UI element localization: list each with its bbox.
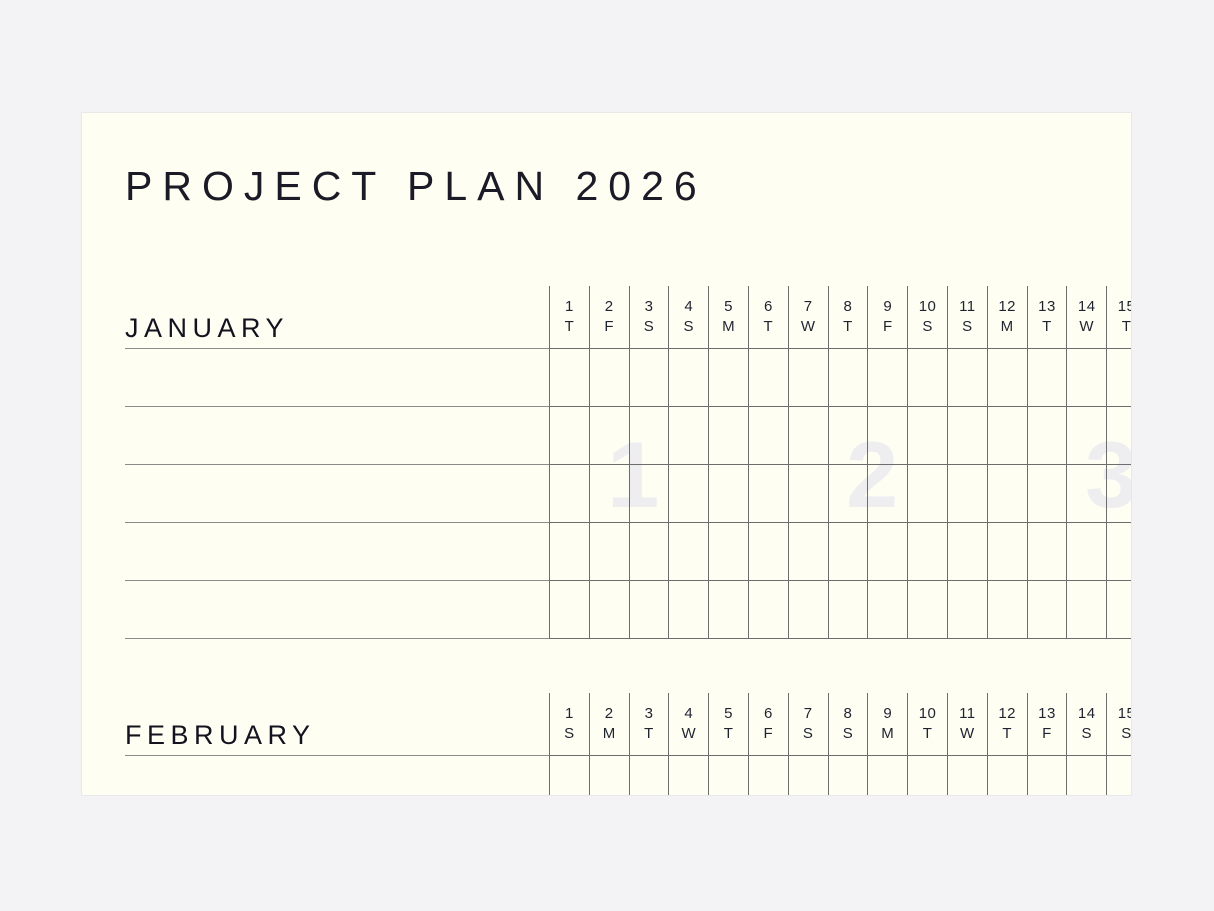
- day-of-week: M: [709, 316, 748, 337]
- day-cell[interactable]: [1067, 406, 1107, 464]
- day-header-cell[interactable]: 8S: [828, 693, 868, 755]
- day-cell[interactable]: [748, 755, 788, 795]
- day-cell[interactable]: [1067, 755, 1107, 795]
- day-of-week: W: [789, 316, 828, 337]
- month-block-january: JANUARY 1231T2F3S4S5M6T7W8T9F10S11S12M13…: [82, 286, 1131, 644]
- day-number: 4: [669, 704, 708, 723]
- day-cell[interactable]: [709, 348, 749, 406]
- day-header-cell[interactable]: 8T: [828, 286, 868, 348]
- month-block-february: FEBRUARY 1S2M3T4W5T6F7S8S9M10T11W12T13F1…: [82, 693, 1131, 795]
- day-header-cell[interactable]: 12M: [987, 286, 1027, 348]
- day-cell[interactable]: [828, 464, 868, 522]
- task-row: [550, 348, 1132, 406]
- day-header-cell[interactable]: 3S: [629, 286, 669, 348]
- day-number: 9: [868, 704, 907, 723]
- day-number: 15: [1107, 297, 1131, 316]
- day-cell[interactable]: [828, 406, 868, 464]
- day-number: 11: [948, 704, 987, 723]
- day-of-week: T: [1028, 316, 1067, 337]
- day-cell[interactable]: [629, 522, 669, 580]
- day-number: 5: [709, 704, 748, 723]
- day-of-week: S: [948, 316, 987, 337]
- day-cell[interactable]: [828, 580, 868, 638]
- day-header-cell[interactable]: 1S: [550, 693, 590, 755]
- day-number: 13: [1028, 297, 1067, 316]
- day-number: 3: [630, 297, 669, 316]
- day-number: 15: [1107, 704, 1131, 723]
- day-header-cell[interactable]: 4S: [669, 286, 709, 348]
- day-of-week: T: [1107, 316, 1131, 337]
- day-cell[interactable]: [1027, 755, 1067, 795]
- task-label-rule: [125, 348, 549, 349]
- day-cell[interactable]: [1067, 580, 1107, 638]
- day-of-week: M: [868, 723, 907, 744]
- sunday-cell[interactable]: [550, 755, 590, 795]
- day-header-cell[interactable]: 6T: [748, 286, 788, 348]
- day-header-cell[interactable]: 11S: [947, 286, 987, 348]
- day-cell[interactable]: [1107, 522, 1131, 580]
- sunday-cell[interactable]: [828, 755, 868, 795]
- day-number: 2: [590, 704, 629, 723]
- day-number: 14: [1067, 704, 1106, 723]
- day-cell[interactable]: [908, 464, 948, 522]
- day-cell[interactable]: [709, 755, 749, 795]
- day-header-cell[interactable]: 15S: [1107, 693, 1131, 755]
- day-cell[interactable]: [709, 522, 749, 580]
- day-cell[interactable]: [1067, 464, 1107, 522]
- day-header-row: 1S2M3T4W5T6F7S8S9M10T11W12T13F14S15S: [550, 693, 1132, 755]
- sunday-cell[interactable]: [669, 406, 709, 464]
- day-of-week: F: [868, 316, 907, 337]
- day-cell[interactable]: [550, 580, 590, 638]
- day-number: 11: [948, 297, 987, 316]
- month-name-january: JANUARY: [125, 313, 289, 344]
- task-row: [550, 580, 1132, 638]
- day-number: 12: [988, 704, 1027, 723]
- task-label-rule: [125, 406, 549, 407]
- sunday-cell[interactable]: [947, 464, 987, 522]
- day-cell[interactable]: [788, 406, 828, 464]
- day-number: 2: [590, 297, 629, 316]
- day-number: 7: [789, 297, 828, 316]
- day-header-cell[interactable]: 10T: [908, 693, 948, 755]
- day-of-week: S: [1067, 723, 1106, 744]
- day-header-cell[interactable]: 14S: [1067, 693, 1107, 755]
- day-cell[interactable]: [748, 348, 788, 406]
- day-number: 1: [550, 297, 589, 316]
- day-header-cell[interactable]: 1T: [550, 286, 590, 348]
- day-of-week: T: [550, 316, 589, 337]
- sunday-cell[interactable]: [669, 580, 709, 638]
- day-cell[interactable]: [550, 522, 590, 580]
- day-of-week: M: [590, 723, 629, 744]
- day-number: 8: [829, 704, 868, 723]
- day-cell[interactable]: [868, 755, 908, 795]
- day-cell[interactable]: [589, 580, 629, 638]
- day-of-week: S: [550, 723, 589, 744]
- day-cell[interactable]: [589, 522, 629, 580]
- day-cell[interactable]: [629, 580, 669, 638]
- day-cell[interactable]: [629, 464, 669, 522]
- day-of-week: T: [630, 723, 669, 744]
- planner-card: PROJECT PLAN 2026 JANUARY 1231T2F3S4S5M6…: [82, 113, 1131, 795]
- day-cell[interactable]: [947, 755, 987, 795]
- sunday-cell[interactable]: [669, 348, 709, 406]
- day-header-cell[interactable]: 9F: [868, 286, 908, 348]
- day-number: 1: [550, 704, 589, 723]
- day-of-week: S: [669, 316, 708, 337]
- day-cell[interactable]: [550, 464, 590, 522]
- day-number: 3: [630, 704, 669, 723]
- day-of-week: F: [1028, 723, 1067, 744]
- day-number: 7: [789, 704, 828, 723]
- day-cell[interactable]: [908, 348, 948, 406]
- month-name-february: FEBRUARY: [125, 720, 316, 751]
- day-of-week: T: [749, 316, 788, 337]
- day-cell[interactable]: [748, 580, 788, 638]
- task-row: [550, 755, 1132, 795]
- day-cell[interactable]: [1027, 406, 1067, 464]
- day-cell[interactable]: [868, 348, 908, 406]
- day-of-week: T: [988, 723, 1027, 744]
- day-header-cell[interactable]: 10S: [908, 286, 948, 348]
- day-cell[interactable]: [908, 406, 948, 464]
- day-of-week: W: [1067, 316, 1106, 337]
- day-cell[interactable]: [589, 464, 629, 522]
- day-cell[interactable]: [868, 522, 908, 580]
- day-cell[interactable]: [987, 348, 1027, 406]
- day-cell[interactable]: [788, 580, 828, 638]
- day-cell[interactable]: [868, 464, 908, 522]
- day-cell[interactable]: [748, 406, 788, 464]
- day-of-week: W: [948, 723, 987, 744]
- day-header-cell[interactable]: 7W: [788, 286, 828, 348]
- day-cell[interactable]: [589, 406, 629, 464]
- day-header-cell[interactable]: 15T: [1107, 286, 1131, 348]
- day-cell[interactable]: [788, 464, 828, 522]
- day-of-week: S: [789, 723, 828, 744]
- day-of-week: M: [988, 316, 1027, 337]
- task-label-rule: [125, 755, 549, 756]
- sunday-cell[interactable]: [947, 406, 987, 464]
- task-label-rule: [125, 638, 549, 639]
- day-of-week: S: [908, 316, 947, 337]
- day-cell[interactable]: [788, 348, 828, 406]
- day-header-cell[interactable]: 6F: [748, 693, 788, 755]
- day-cell[interactable]: [1067, 348, 1107, 406]
- day-cell[interactable]: [868, 580, 908, 638]
- day-header-cell[interactable]: 5T: [709, 693, 749, 755]
- day-of-week: S: [1107, 723, 1131, 744]
- sunday-cell[interactable]: [669, 522, 709, 580]
- day-header-cell[interactable]: 2F: [589, 286, 629, 348]
- day-cell[interactable]: [669, 755, 709, 795]
- day-cell[interactable]: [788, 755, 828, 795]
- day-header-cell[interactable]: 11W: [947, 693, 987, 755]
- day-cell[interactable]: [987, 464, 1027, 522]
- task-row: [550, 464, 1132, 522]
- day-cell[interactable]: [629, 406, 669, 464]
- day-cell[interactable]: [1027, 348, 1067, 406]
- day-header-cell[interactable]: 5M: [709, 286, 749, 348]
- day-cell[interactable]: [589, 348, 629, 406]
- day-cell[interactable]: [987, 755, 1027, 795]
- day-cell[interactable]: [908, 580, 948, 638]
- day-cell[interactable]: [908, 522, 948, 580]
- day-header-cell[interactable]: 14W: [1067, 286, 1107, 348]
- day-cell[interactable]: [1107, 464, 1131, 522]
- day-cell[interactable]: [828, 522, 868, 580]
- day-header-cell[interactable]: 7S: [788, 693, 828, 755]
- day-number: 10: [908, 297, 947, 316]
- page-title: PROJECT PLAN 2026: [125, 163, 707, 210]
- day-header-cell[interactable]: 13T: [1027, 286, 1067, 348]
- day-cell[interactable]: [987, 406, 1027, 464]
- day-of-week: T: [908, 723, 947, 744]
- task-label-rule: [125, 522, 549, 523]
- day-cell[interactable]: [1027, 580, 1067, 638]
- day-cell[interactable]: [709, 464, 749, 522]
- day-cell[interactable]: [987, 580, 1027, 638]
- day-number: 14: [1067, 297, 1106, 316]
- day-of-week: S: [630, 316, 669, 337]
- sunday-cell[interactable]: [947, 348, 987, 406]
- day-of-week: F: [590, 316, 629, 337]
- day-grid-table: 1S2M3T4W5T6F7S8S9M10T11W12T13F14S15S: [549, 693, 1131, 795]
- day-cell[interactable]: [987, 522, 1027, 580]
- task-row: [550, 406, 1132, 464]
- day-cell[interactable]: [788, 522, 828, 580]
- day-of-week: T: [709, 723, 748, 744]
- day-of-week: W: [669, 723, 708, 744]
- day-header-cell[interactable]: 12T: [987, 693, 1027, 755]
- day-number: 8: [829, 297, 868, 316]
- day-header-row: 1T2F3S4S5M6T7W8T9F10S11S12M13T14W15T: [550, 286, 1132, 348]
- day-grid-table: 1T2F3S4S5M6T7W8T9F10S11S12M13T14W15T: [549, 286, 1131, 639]
- day-cell[interactable]: [868, 406, 908, 464]
- day-cell[interactable]: [1027, 522, 1067, 580]
- day-cell[interactable]: [1107, 348, 1131, 406]
- day-cell[interactable]: [908, 755, 948, 795]
- day-cell[interactable]: [589, 755, 629, 795]
- day-number: 13: [1028, 704, 1067, 723]
- day-of-week: T: [829, 316, 868, 337]
- task-label-rule: [125, 464, 549, 465]
- day-number: 5: [709, 297, 748, 316]
- calendar-grid-february: 1S2M3T4W5T6F7S8S9M10T11W12T13F14S15S: [549, 693, 1131, 795]
- sunday-cell[interactable]: [947, 580, 987, 638]
- day-of-week: F: [749, 723, 788, 744]
- day-cell[interactable]: [629, 348, 669, 406]
- day-header-cell[interactable]: 13F: [1027, 693, 1067, 755]
- day-cell[interactable]: [709, 580, 749, 638]
- day-of-week: S: [829, 723, 868, 744]
- task-label-rule: [125, 580, 549, 581]
- day-cell[interactable]: [629, 755, 669, 795]
- task-row: [550, 522, 1132, 580]
- day-cell[interactable]: [550, 406, 590, 464]
- day-number: 6: [749, 297, 788, 316]
- day-header-cell[interactable]: 2M: [589, 693, 629, 755]
- day-number: 4: [669, 297, 708, 316]
- day-header-cell[interactable]: 3T: [629, 693, 669, 755]
- day-number: 12: [988, 297, 1027, 316]
- day-cell[interactable]: [828, 348, 868, 406]
- day-number: 9: [868, 297, 907, 316]
- day-cell[interactable]: [550, 348, 590, 406]
- day-cell[interactable]: [748, 464, 788, 522]
- day-cell[interactable]: [1067, 522, 1107, 580]
- sunday-cell[interactable]: [1107, 755, 1131, 795]
- sunday-cell[interactable]: [947, 522, 987, 580]
- day-cell[interactable]: [1107, 580, 1131, 638]
- day-cell[interactable]: [1107, 406, 1131, 464]
- day-header-cell[interactable]: 9M: [868, 693, 908, 755]
- day-number: 6: [749, 704, 788, 723]
- day-cell[interactable]: [748, 522, 788, 580]
- calendar-grid-january: 1231T2F3S4S5M6T7W8T9F10S11S12M13T14W15T: [549, 286, 1131, 644]
- day-cell[interactable]: [1027, 464, 1067, 522]
- sunday-cell[interactable]: [669, 464, 709, 522]
- day-cell[interactable]: [709, 406, 749, 464]
- day-header-cell[interactable]: 4W: [669, 693, 709, 755]
- day-number: 10: [908, 704, 947, 723]
